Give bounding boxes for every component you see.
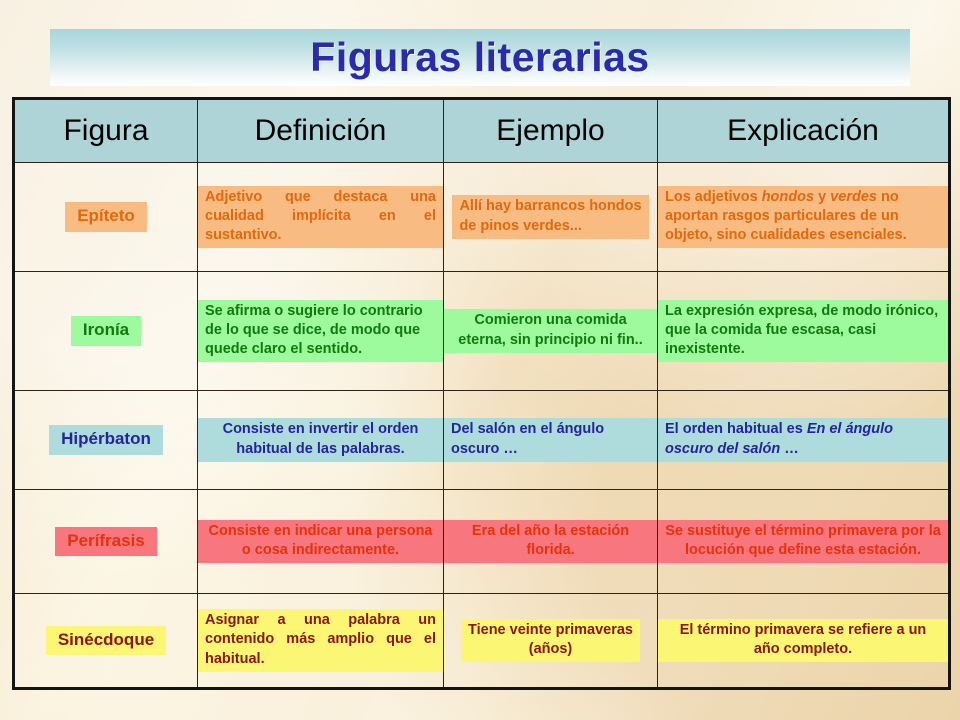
cell-definicion-2: Consiste en invertir el orden habitual d…: [198, 391, 444, 490]
example-chip: Tiene veinte primaveras(años): [461, 619, 640, 663]
cell-explicacion-3: Se sustituye el término primavera por la…: [658, 490, 950, 594]
explanation-chip: La expresión expresa, de modo irónico, q…: [658, 300, 948, 363]
explanation-chip: Los adjetivos hondos y verdes no aportan…: [658, 186, 948, 249]
cell-ejemplo-4: Tiene veinte primaveras(años): [444, 594, 658, 689]
explanation-chip: El término primavera se refiere a un año…: [658, 619, 948, 663]
table-header-row: Figura Definición Ejemplo Explicación: [14, 99, 950, 163]
definition-chip: Asignar a una palabra un contenido más a…: [198, 609, 443, 672]
example-chip: Allí hay barrancos hondosde pinos verdes…: [452, 195, 648, 239]
table-row: IroníaSe afirma o sugiere lo contrario d…: [14, 272, 950, 391]
column-header-definicion: Definición: [198, 99, 444, 163]
example-chip: Del salón en el ángulo oscuro …: [444, 418, 657, 462]
cell-ejemplo-2: Del salón en el ángulo oscuro …: [444, 391, 658, 490]
column-header-ejemplo: Ejemplo: [444, 99, 658, 163]
cell-definicion-3: Consiste en indicar una persona o cosa i…: [198, 490, 444, 594]
title-banner: Figuras literarias: [50, 29, 910, 86]
figure-name-chip: Hipérbaton: [49, 425, 163, 455]
cell-figura-4: Sinécdoque: [14, 594, 198, 689]
column-header-explicacion: Explicación: [658, 99, 950, 163]
literary-figures-table: Figura Definición Ejemplo Explicación Ep…: [12, 97, 951, 690]
page-title: Figuras literarias: [310, 37, 649, 78]
cell-figura-2: Hipérbaton: [14, 391, 198, 490]
table-row: HipérbatonConsiste en invertir el orden …: [14, 391, 950, 490]
cell-definicion-1: Se afirma o sugiere lo contrario de lo q…: [198, 272, 444, 391]
figure-name-chip: Sinécdoque: [46, 626, 166, 656]
explanation-chip: El orden habitual es En el ángulo oscuro…: [658, 418, 948, 462]
table-body: EpítetoAdjetivo que destaca una cualidad…: [14, 163, 950, 689]
cell-explicacion-2: El orden habitual es En el ángulo oscuro…: [658, 391, 950, 490]
table-row: PerífrasisConsiste en indicar una person…: [14, 490, 950, 594]
column-header-figura: Figura: [14, 99, 198, 163]
cell-explicacion-4: El término primavera se refiere a un año…: [658, 594, 950, 689]
table-header: Figura Definición Ejemplo Explicación: [14, 99, 950, 163]
figure-name-chip: Ironía: [71, 316, 141, 346]
cell-figura-0: Epíteto: [14, 163, 198, 272]
figure-name-chip: Perífrasis: [55, 527, 157, 557]
table-row: SinécdoqueAsignar a una palabra un conte…: [14, 594, 950, 689]
explanation-chip: Se sustituye el término primavera por la…: [658, 520, 948, 564]
cell-explicacion-1: La expresión expresa, de modo irónico, q…: [658, 272, 950, 391]
cell-ejemplo-0: Allí hay barrancos hondosde pinos verdes…: [444, 163, 658, 272]
definition-chip: Se afirma o sugiere lo contrario de lo q…: [198, 300, 443, 363]
table-row: EpítetoAdjetivo que destaca una cualidad…: [14, 163, 950, 272]
cell-ejemplo-1: Comieron una comida eterna, sin principi…: [444, 272, 658, 391]
definition-chip: Consiste en invertir el orden habitual d…: [198, 418, 443, 462]
cell-figura-1: Ironía: [14, 272, 198, 391]
cell-definicion-0: Adjetivo que destaca una cualidad implíc…: [198, 163, 444, 272]
definition-chip: Adjetivo que destaca una cualidad implíc…: [198, 186, 443, 249]
cell-definicion-4: Asignar a una palabra un contenido más a…: [198, 594, 444, 689]
cell-ejemplo-3: Era del año la estación florida.: [444, 490, 658, 594]
example-chip: Comieron una comida eterna, sin principi…: [444, 309, 657, 353]
cell-figura-3: Perífrasis: [14, 490, 198, 594]
definition-chip: Consiste en indicar una persona o cosa i…: [198, 520, 443, 564]
example-chip: Era del año la estación florida.: [444, 520, 657, 564]
cell-explicacion-0: Los adjetivos hondos y verdes no aportan…: [658, 163, 950, 272]
figure-name-chip: Epíteto: [65, 202, 147, 232]
